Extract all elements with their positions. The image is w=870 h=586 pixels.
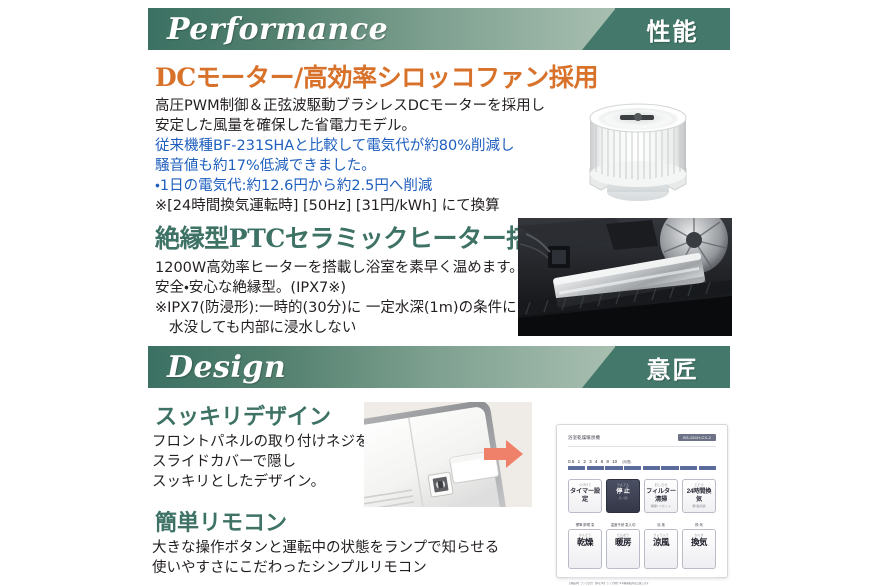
feature-title-ptc-heater: 絶縁型PTCセラミックヒーター搭載 [155, 219, 556, 255]
feature-body-clean-design: フロントパネルの取り付けネジを スライドカバーで隠し スッキリとしたデザイン。 [152, 432, 370, 492]
remote-button-24h-ventilation[interactable]: じどう 24時間換気 弱・強切換 [682, 479, 716, 514]
button-label: フィルター清掃 [646, 488, 676, 504]
timer-value: 8 [606, 459, 609, 464]
button-label: 24時間換気 [684, 488, 714, 504]
banner-right-block: 意匠 [615, 346, 730, 388]
mode-caption: 換 気 [682, 522, 716, 527]
remote-button-timer[interactable]: つづけて タイマー設定 [568, 479, 602, 514]
remote-header: 浴室乾燥暖房機 BS-261H-CX-2 [568, 434, 716, 441]
timer-value: 1 [578, 459, 581, 464]
remote-button-filter-clean[interactable]: おしらせ フィルター清掃 解除/ リセット [644, 479, 678, 514]
mode-caption: 涼 風 [644, 522, 678, 527]
body-line: 使いやすさにこだわったシンプルリモコン [152, 558, 499, 578]
timer-segment [624, 466, 641, 470]
timer-value: 3 [589, 459, 592, 464]
remote-timer-scale: 0.5 1 2 3 4 6 8 10 (時間) [568, 459, 716, 464]
feature-title-clean-design: スッキリデザイン [155, 399, 331, 431]
remote-button-heating[interactable]: だんぼう 暖房 [606, 529, 640, 569]
body-line: 安全・安心な絶縁型。(IPX7※) [155, 278, 524, 298]
remote-button-ventilation[interactable]: かんき 換気 [682, 529, 716, 569]
body-line-highlight: 従来機種BF-231SHAと比較して電気代が約80%削減し [155, 136, 545, 156]
timer-segment [605, 466, 622, 470]
remote-top-button-row: つづけて タイマー設定 うんてん 停 止 入 / 切 おしらせ フィルター清掃 … [568, 479, 716, 514]
photo-simple-remote-control: 浴室乾燥暖房機 BS-261H-CX-2 0.5 1 2 3 4 6 8 10 … [556, 424, 728, 578]
button-label: タイマー設定 [570, 488, 600, 504]
body-line: 安定した風量を確保した省電力モデル。 [155, 116, 545, 136]
arrow-right-icon [484, 438, 524, 470]
button-sublabel: 入 / 切 [608, 496, 638, 501]
body-line: 水没しても内部に浸水しない [155, 318, 524, 338]
photo-sirocco-fan-motor [568, 88, 708, 206]
photo-ptc-ceramic-heater [518, 218, 732, 336]
button-label: 停 止 [608, 488, 638, 496]
button-label: 乾燥 [570, 537, 600, 548]
arrow-right-glyph [484, 438, 524, 470]
section-banner-design: Design 意匠 [148, 346, 730, 388]
banner-left-gradient: Performance [148, 8, 615, 50]
banner-right-block: 性能 [615, 8, 730, 50]
body-line: ※IPX7(防浸形):一時的(30分)に 一定水深(1m)の条件に [155, 298, 524, 318]
banner-title-en: Performance [148, 12, 388, 47]
button-label: 換気 [684, 537, 714, 548]
remote-control-panel: 浴室乾燥暖房機 BS-261H-CX-2 0.5 1 2 3 4 6 8 10 … [556, 424, 728, 578]
remote-model-badge: BS-261H-CX-2 [678, 434, 716, 441]
timer-value: 6 [601, 459, 604, 464]
body-note: ※[24時間換気運転時] [50Hz] [31円/kWh] にて換算 [155, 196, 545, 216]
body-line: フロントパネルの取り付けネジを [152, 432, 370, 452]
button-sublabel: 解除/ リセット [646, 504, 676, 509]
remote-footer-note: 【運転中】ランプ点灯 【停止中】ランプ消灯 ※予熱運転時は点滅します [568, 577, 716, 586]
timer-value: 2 [583, 459, 586, 464]
mode-caption: 標準 節電 急 [568, 522, 602, 527]
button-sublabel: 弱・強切換 [684, 504, 714, 509]
mode-caption: 温度予熱 急入切 [606, 522, 640, 527]
banner-title-jp: 性能 [647, 12, 699, 47]
timer-unit: (時間) [622, 459, 631, 464]
body-line: 大きな操作ボタンと運転中の状態をランプで知らせる [152, 538, 499, 558]
remote-button-cool-breeze[interactable]: りょうふう 涼風 [644, 529, 678, 569]
timer-segment [587, 466, 604, 470]
banner-left-gradient: Design [148, 346, 615, 388]
remote-header-title: 浴室乾燥暖房機 [568, 435, 600, 441]
banner-title-en: Design [148, 350, 286, 385]
feature-title-easy-remote: 簡単リモコン [155, 505, 287, 537]
body-line: スッキリとしたデザイン。 [152, 472, 370, 492]
timer-segment [680, 466, 697, 470]
feature-body-ptc-heater: 1200W高効率ヒーターを搭載し浴室を素早く温めます。 安全・安心な絶縁型。(I… [155, 258, 524, 338]
sirocco-fan-icon [568, 88, 708, 206]
remote-mode-button-row: かんそう 乾燥 だんぼう 暖房 りょうふう 涼風 かんき 換気 [568, 529, 716, 569]
button-label: 暖房 [608, 537, 638, 548]
button-label: 涼風 [646, 537, 676, 548]
body-line-highlight: 騒音値も約17%低減できました。 [155, 156, 545, 176]
timer-segment [699, 466, 716, 470]
body-line: 高圧PWM制御＆正弦波駆動ブラシレスDCモーターを採用し [155, 96, 545, 116]
timer-segment [661, 466, 678, 470]
timer-segment [643, 466, 660, 470]
remote-divider [568, 446, 716, 447]
timer-segment [568, 466, 585, 470]
timer-value: 0.5 [568, 459, 574, 464]
timer-value: 10 [612, 459, 617, 464]
banner-title-jp: 意匠 [647, 350, 699, 385]
remote-mode-captions: 標準 節電 急 温度予熱 急入切 涼 風 換 気 [568, 522, 716, 527]
timer-value: 4 [595, 459, 598, 464]
body-line-highlight: ・1日の電気代:約12.6円から約2.5円へ削減 [155, 176, 545, 196]
feature-title-dc-motor: DCモーター/高効率シロッコファン採用 [155, 58, 598, 94]
body-line: スライドカバーで隠し [152, 452, 370, 472]
feature-body-dc-motor: 高圧PWM制御＆正弦波駆動ブラシレスDCモーターを採用し 安定した風量を確保した… [155, 96, 545, 216]
remote-button-stop[interactable]: うんてん 停 止 入 / 切 [606, 479, 640, 514]
feature-body-easy-remote: 大きな操作ボタンと運転中の状態をランプで知らせる 使いやすさにこだわったシンプル… [152, 538, 499, 578]
remote-timer-indicator-bar [568, 466, 716, 470]
remote-button-dry[interactable]: かんそう 乾燥 [568, 529, 602, 569]
section-banner-performance: Performance 性能 [148, 8, 730, 50]
body-line: 1200W高効率ヒーターを搭載し浴室を素早く温めます。 [155, 258, 524, 278]
heater-assembly-icon [518, 218, 732, 336]
